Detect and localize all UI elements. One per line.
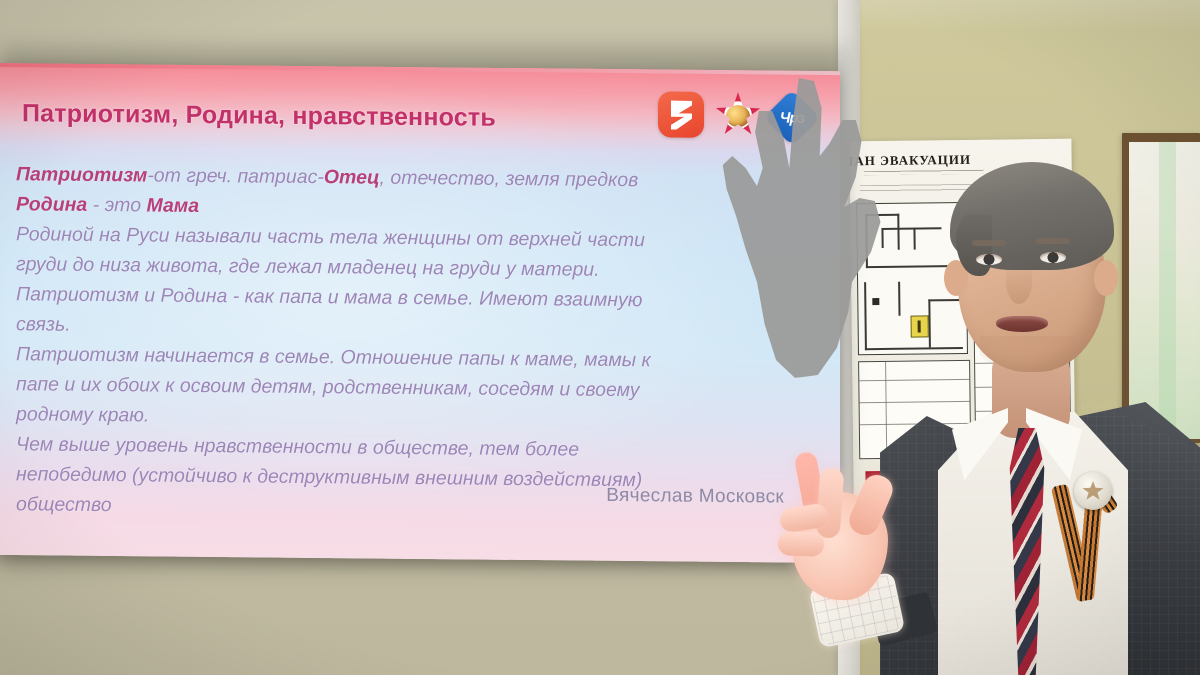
eyebrow-left [972,240,1006,246]
st-george-ribbon [1060,470,1116,598]
slide-line-2-text: - это [87,194,146,217]
zen-logo-icon [658,91,704,137]
eyebrow-right [1036,238,1070,244]
eye-right [1040,252,1066,263]
nose [1006,260,1032,304]
presenter-hand [778,440,928,620]
ear-right [1094,260,1118,296]
hand-finger-little [778,531,825,557]
hand-finger-middle [816,467,845,539]
mouth [996,316,1048,332]
chin [980,336,1076,370]
eye-left [976,254,1002,265]
slide-line-1-bold: Отец [324,166,380,189]
projection-screen: Патриотизм, Родина, нравственность Чрз П… [0,63,840,563]
slide-line-1-text: -от греч. патриас- [147,164,324,188]
hair [950,162,1114,270]
slide-logo-group: Чрз [658,91,812,138]
medal-badge [1074,472,1112,510]
slide-line-1-tail: , отечество, земля предков [380,167,639,191]
slide-body-text: Патриотизм-от греч. патриас-Отец, отечес… [16,159,796,526]
slide-line-2-bold: Мама [146,194,199,217]
slide-title: Патриотизм, Родина, нравственность [22,99,496,133]
slide-line-1-lead: Патриотизм [16,163,147,186]
photo-scene: ЛАН ЭВАКУАЦИИ [0,0,1200,675]
slide-line-2-lead: Родина [16,193,87,216]
star-emblem-logo-icon [715,92,761,138]
star-emblem-center [726,105,750,127]
wall-top-band [838,0,1200,30]
